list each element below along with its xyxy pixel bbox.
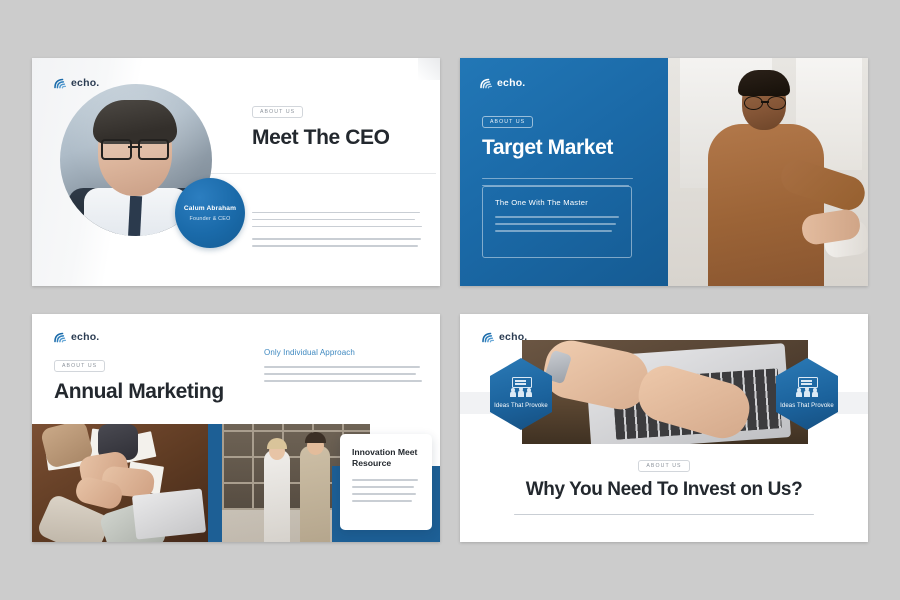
slide4-paragraph: Lorem ipsum dolor sit amet, consectetur … [514, 514, 814, 516]
feature-card[interactable]: The One With The Master Donec consequat … [482, 186, 632, 258]
slide3-paragraph: Lorem ipsum dolor sit amet, consectetur … [264, 366, 424, 382]
slide-why-invest[interactable]: echo. Ideas That Provoke Ideas That Prov… [460, 314, 868, 542]
blue-divider-bar [208, 424, 222, 542]
laptop-typing-photo [522, 340, 808, 444]
ceo-role: Founder & CEO [190, 216, 231, 222]
innovation-card-title: Innovation Meet Resource [352, 447, 420, 469]
about-us-badge[interactable]: ABOUT US [252, 106, 303, 118]
slide2-content: ABOUT US Target Market Donec consequat o… [482, 110, 652, 192]
logo-text: echo. [71, 78, 99, 89]
hexagon-label: Ideas That Provoke [494, 402, 548, 410]
slide3-heading-block: ABOUT US Annual Marketing [54, 354, 244, 404]
handshake-photo [668, 58, 868, 286]
slide-target-market[interactable]: echo. ABOUT US Target Market Donec conse… [460, 58, 868, 286]
about-us-badge[interactable]: ABOUT US [482, 116, 533, 128]
logo[interactable]: echo. [480, 78, 525, 89]
presentation-people-icon [796, 377, 818, 397]
team-hands-photo [32, 424, 208, 542]
about-us-badge[interactable]: ABOUT US [54, 360, 105, 372]
logo[interactable]: echo. [482, 332, 527, 343]
page-title: Annual Marketing [54, 381, 244, 404]
slide1-paragraph-1: Lorem ipsum dolor sit amet, consectetur … [252, 212, 422, 228]
slide-meet-the-ceo[interactable]: echo. Calum Abraham Founder & CEO ABOUT … [32, 58, 440, 286]
section-subtitle: Only Individual Approach [264, 348, 424, 357]
ceo-name: Calum Abraham [184, 205, 236, 212]
slide4-footer: ABOUT US Why You Need To Invest on Us? L… [460, 454, 868, 515]
echo-wave-icon [54, 78, 67, 89]
echo-wave-icon [480, 78, 493, 89]
echo-wave-icon [482, 332, 495, 343]
feature-card-title: The One With The Master [495, 198, 619, 207]
echo-wave-icon [54, 332, 67, 343]
corner-fold [418, 58, 440, 80]
slide-annual-marketing[interactable]: echo. ABOUT US Annual Marketing Only Ind… [32, 314, 440, 542]
logo-text: echo. [71, 332, 99, 343]
logo[interactable]: echo. [54, 78, 99, 89]
logo-text: echo. [497, 78, 525, 89]
slide-grid: echo. Calum Abraham Founder & CEO ABOUT … [0, 0, 900, 600]
page-title: Why You Need To Invest on Us? [460, 480, 868, 501]
slide1-content: ABOUT US Meet The CEO Lorem ipsum dolor … [252, 100, 422, 252]
innovation-card[interactable]: Innovation Meet Resource Lorem ipsum dol… [340, 434, 432, 530]
presentation-people-icon [510, 377, 532, 397]
hexagon-label: Ideas That Provoke [780, 402, 834, 410]
innovation-card-paragraph: Lorem ipsum dolor sit amet, con sectetur… [352, 479, 420, 502]
logo[interactable]: echo. [54, 332, 99, 343]
page-title: Meet The CEO [252, 127, 422, 150]
about-us-badge[interactable]: ABOUT US [638, 460, 689, 472]
page-title: Target Market [482, 137, 652, 160]
ceo-name-badge: Calum Abraham Founder & CEO [175, 178, 245, 248]
slide3-text-block: Only Individual Approach Lorem ipsum dol… [264, 348, 424, 387]
feature-card-paragraph: Donec consequat ornare ex non venenatis.… [495, 216, 619, 232]
slide1-paragraph-2: Donec consequat ornare ex non venenatis.… [252, 238, 422, 247]
